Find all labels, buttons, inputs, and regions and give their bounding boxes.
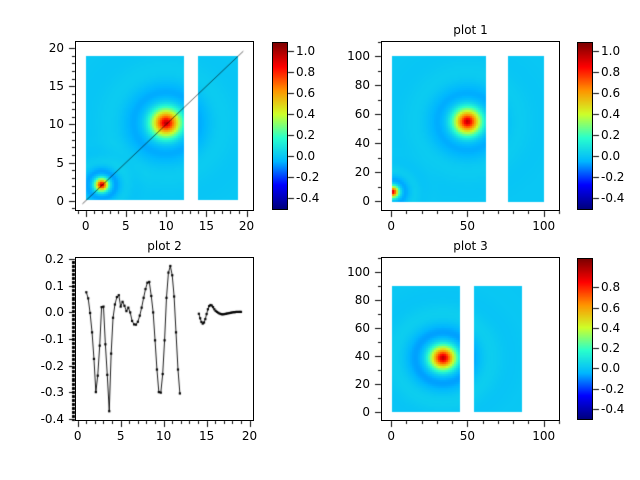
panel-bottom-right-ytick-label: 40 (310, 350, 370, 362)
panel-bottom-right-colorbar-tick-label: 0.4 (601, 322, 640, 334)
panel-bottom-right-colorbar-tick-label: 0.6 (601, 302, 640, 314)
panel-bottom-right-colorbar-tick-label: 0.2 (601, 342, 640, 354)
panel-bottom-right-ytick-label: 20 (310, 378, 370, 390)
panel-bottom-right-ytick-label: 100 (310, 266, 370, 278)
panel-bottom-right-ytick-label: 80 (310, 294, 370, 306)
panel-bottom-right-colorbar-tick-label: -0.4 (601, 403, 640, 415)
panel-bottom-right-colorbar-tick-label: 0.8 (601, 281, 640, 293)
panel-bottom-right-xtick-label: 100 (516, 430, 572, 442)
panel-bottom-right-colorbar-tick-label: -0.2 (601, 383, 640, 395)
panel-bottom-right-xtick-label: 50 (439, 430, 495, 442)
panel-bottom-right-ytick-label: 60 (310, 322, 370, 334)
panel-bottom-right-colorbar-tick-label: 0.0 (601, 362, 640, 374)
panel-bottom-right-colorbar (578, 259, 592, 419)
figure-canvas: 05101520051015201.00.80.60.40.20.0-0.2-0… (0, 0, 640, 480)
panel-bottom-right-xtick-label: 0 (363, 430, 419, 442)
panel-bottom-right-ytick-label: 0 (310, 406, 370, 418)
panel-bottom-right: plot 30501000204060801000.80.60.40.20.0-… (0, 0, 640, 480)
